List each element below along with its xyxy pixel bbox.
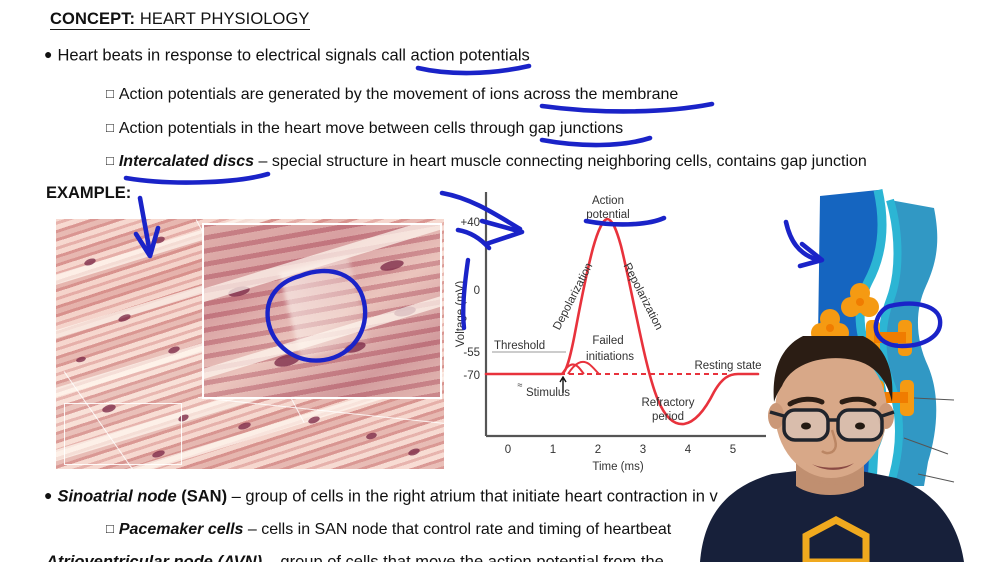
presenter-eye-left — [801, 423, 811, 430]
square-bullet-icon: □ — [106, 521, 114, 536]
square-bullet-icon: □ — [106, 153, 114, 168]
threshold-label: Threshold — [494, 340, 545, 352]
slide-canvas: CONCEPT: HEART PHYSIOLOGY ●Heart beats i… — [0, 0, 1000, 562]
bullet-item-7-abbrev: (AVN) — [217, 553, 262, 562]
bullet-item-4: □Intercalated discs – special structure … — [106, 153, 867, 171]
bullet-item-1: ●Heart beats in response to electrical s… — [44, 46, 530, 66]
y-tick-0: 0 — [474, 285, 480, 297]
ink-underline-intercalated-discs — [126, 174, 268, 183]
page-title: CONCEPT: HEART PHYSIOLOGY — [50, 10, 310, 29]
square-bullet-icon: □ — [106, 120, 114, 135]
annotation-stimulus-mark: ≈ — [518, 380, 523, 390]
bullet-item-3-label: Action potentials in the heart move betw… — [119, 120, 623, 137]
bullet-item-6-label: – cells in SAN node that control rate an… — [243, 521, 671, 538]
annotation-depolarization: Depolarization — [551, 261, 595, 332]
histology-image — [56, 219, 444, 469]
bullet-marker-icon: ● — [44, 487, 52, 503]
ink-underline-across-membrane — [542, 104, 712, 111]
bullet-item-4-label: – special structure in heart muscle conn… — [254, 153, 867, 170]
y-tick-55: -55 — [463, 347, 480, 359]
bullet-item-5: ●Sinoatrial node (SAN) – group of cells … — [44, 487, 718, 507]
y-axis-label: Voltage (mV) — [455, 281, 467, 348]
bullet-item-1-label: Heart beats in response to electrical si… — [57, 47, 529, 65]
presenter-eye-right — [855, 423, 865, 430]
bullet-item-6-term: Pacemaker cells — [119, 521, 244, 538]
x-tick-2: 2 — [595, 444, 601, 456]
square-bullet-icon: □ — [106, 86, 114, 101]
bullet-item-4-term: Intercalated discs — [119, 153, 254, 170]
annotation-action-potential-2: potential — [586, 209, 629, 221]
histology-region-box — [64, 403, 182, 465]
annotation-failed-2: initiations — [586, 351, 634, 363]
bullet-item-2: □Action potentials are generated by the … — [106, 86, 678, 104]
y-tick-70: -70 — [463, 370, 480, 382]
y-tick-40: +40 — [460, 217, 480, 229]
page-title-rest: HEART PHYSIOLOGY — [135, 10, 309, 28]
annotation-action-potential-1: Action — [592, 195, 624, 207]
ink-underline-gap-junctions — [542, 138, 650, 145]
bullet-item-6: □Pacemaker cells – cells in SAN node tha… — [106, 521, 671, 539]
x-tick-1: 1 — [550, 444, 556, 456]
x-tick-3: 3 — [640, 444, 646, 456]
bullet-item-5-term: Sinoatrial node — [57, 488, 176, 506]
x-axis-label: Time (ms) — [592, 461, 643, 473]
annotation-failed-1: Failed — [592, 335, 623, 347]
presenter-webcam-overlay[interactable] — [686, 336, 1000, 562]
bullet-item-7-term: Atrioventricular node — [46, 553, 213, 562]
annotation-refractory-2: period — [652, 411, 684, 423]
bullet-marker-icon: ● — [44, 46, 52, 62]
bullet-item-7-label: – group of cells that move the action po… — [262, 553, 664, 562]
failed-initiation-bump-1 — [562, 364, 584, 374]
bullet-item-5-abbrev: (SAN) — [181, 488, 227, 506]
example-label: EXAMPLE: — [46, 184, 131, 203]
bullet-item-3: □Action potentials in the heart move bet… — [106, 120, 623, 138]
bullet-item-7: Atrioventricular node (AVN) – group of c… — [46, 553, 664, 562]
bullet-item-2-label: Action potentials are generated by the m… — [119, 86, 678, 103]
x-tick-0: 0 — [505, 444, 511, 456]
histology-inset — [202, 223, 442, 399]
annotation-repolarization: Repolarization — [621, 261, 665, 332]
bullet-item-5-label: – group of cells in the right atrium tha… — [227, 488, 718, 506]
ink-underline-action-potentials — [418, 66, 529, 73]
page-title-bold: CONCEPT: — [50, 10, 135, 28]
